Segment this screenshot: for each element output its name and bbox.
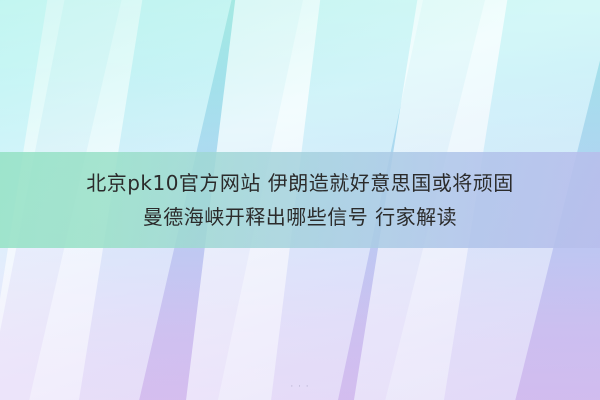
caption-band: 北京pk10官方网站 伊朗造就好意思国或将顽固 曼德海峡开释出哪些信号 行家解读 bbox=[0, 152, 600, 248]
image-canvas: 北京pk10官方网站 伊朗造就好意思国或将顽固 曼德海峡开释出哪些信号 行家解读… bbox=[0, 0, 600, 400]
caption-line-1: 北京pk10官方网站 伊朗造就好意思国或将顽固 bbox=[86, 169, 514, 197]
watermark-text: · · · bbox=[0, 382, 600, 392]
caption-line-2: 曼德海峡开释出哪些信号 行家解读 bbox=[143, 203, 457, 231]
